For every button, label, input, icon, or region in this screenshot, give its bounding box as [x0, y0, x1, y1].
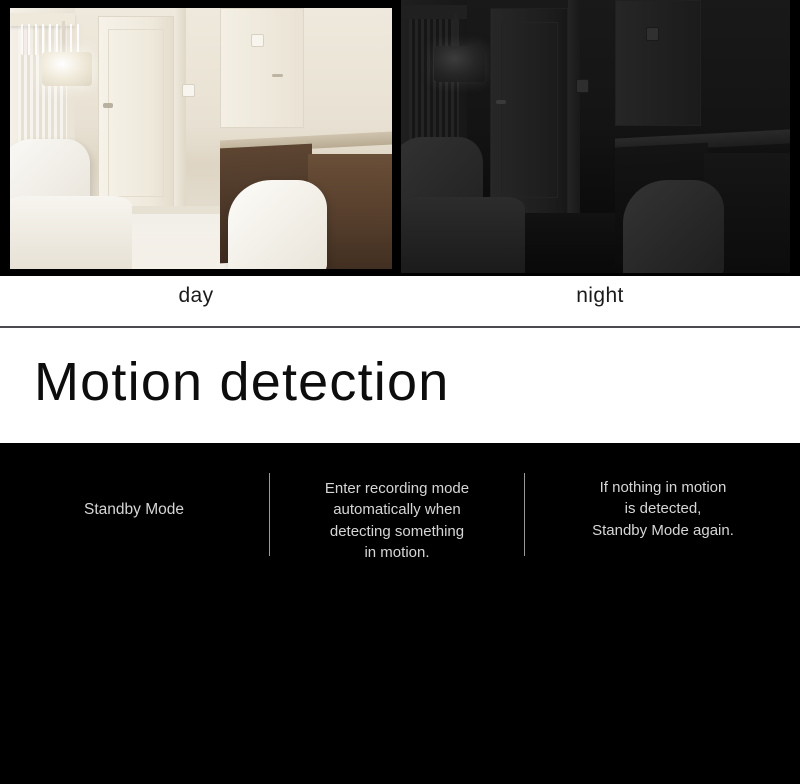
motion-detection-section: Standby Mode Enter recording mode automa… [0, 443, 800, 784]
day-night-label-band: day night [0, 276, 800, 327]
night-door-secondary [615, 0, 701, 126]
step-caption-standby-again: If nothing in motion is detected, Standb… [526, 477, 800, 541]
day-light-switch [182, 84, 195, 97]
caption-line: Enter recording mode [270, 478, 524, 499]
night-pelmet [401, 5, 467, 19]
day-door-frame [174, 8, 185, 222]
night-chair-right [623, 180, 724, 273]
night-scene-illustration [401, 0, 790, 273]
caption-line: detecting something [270, 521, 524, 542]
day-photo [10, 8, 392, 269]
caption-line: in motion. [270, 542, 524, 563]
day-light-switch-secondary [251, 34, 264, 47]
feature-title-band: Motion detection [0, 328, 800, 443]
day-door-secondary [220, 8, 304, 128]
night-door-handle [496, 100, 506, 105]
column-divider-2 [524, 473, 525, 556]
day-door-secondary-handle [272, 74, 283, 77]
night-light-switch-secondary [646, 27, 659, 41]
night-chandelier-icon [434, 46, 485, 81]
caption-line: If nothing in motion [526, 477, 800, 498]
day-chair-right [228, 180, 327, 269]
day-door-primary [98, 16, 174, 214]
day-chandelier-drops [21, 24, 82, 55]
caption-line: Standby Mode [0, 499, 268, 521]
day-night-comparison-strip [0, 0, 800, 276]
feature-title: Motion detection [34, 351, 449, 413]
night-photo [401, 0, 790, 273]
caption-line: automatically when [270, 499, 524, 520]
night-door-primary [490, 8, 568, 215]
night-label: night [400, 284, 800, 308]
day-chandelier-icon [42, 52, 92, 86]
day-door-panel [108, 29, 165, 198]
night-light-switch [576, 79, 589, 93]
night-door-panel [501, 22, 559, 199]
night-door-frame [568, 0, 580, 224]
caption-line: Standby Mode again. [526, 520, 800, 541]
step-caption-standby: Standby Mode [0, 499, 268, 521]
step-caption-recording: Enter recording mode automatically when … [270, 478, 524, 563]
day-door-handle [103, 103, 113, 107]
day-scene-illustration [10, 8, 392, 269]
day-seat-left-lower [10, 196, 132, 269]
caption-line: is detected, [526, 498, 800, 519]
night-seat-left-lower [401, 197, 525, 273]
day-label: day [0, 284, 392, 308]
product-feature-page: day night Motion detection Standby Mode … [0, 0, 800, 784]
